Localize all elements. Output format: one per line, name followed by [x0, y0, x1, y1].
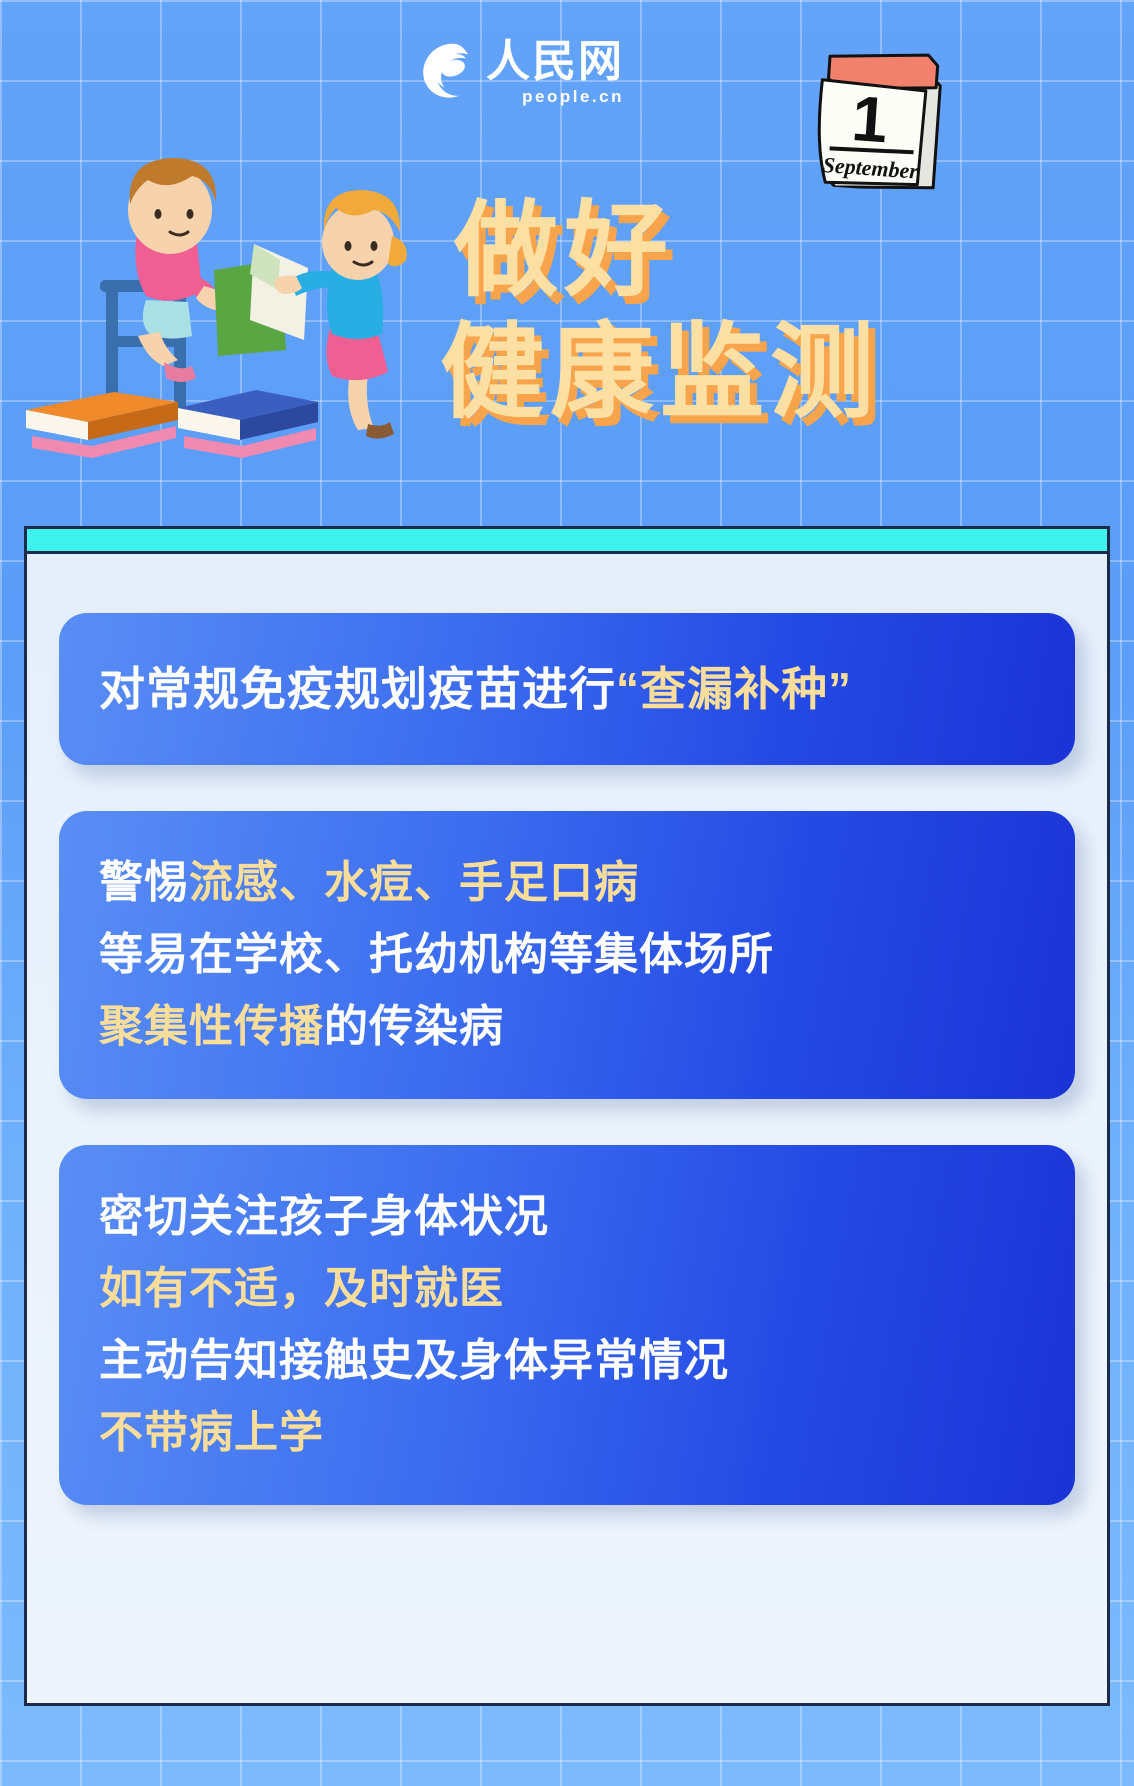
card-vaccine-catchup: 对常规免疫规划疫苗进行“查漏补种” [59, 613, 1075, 765]
body-text: 主动告知接触史及身体异常情况 [99, 1336, 729, 1385]
card-text-line: 对常规免疫规划疫苗进行“查漏补种” [99, 659, 1035, 719]
two-children-reading-book-illustration [18, 140, 438, 460]
calendar-page-icon: 1 September [807, 37, 957, 194]
highlighted-text: 如有不适，及时就医 [99, 1264, 504, 1313]
card-watch-infectious-disease: 警惕流感、水痘、手足口病等易在学校、托幼机构等集体场所聚集性传播的传染病 [59, 811, 1075, 1099]
content-panel: 对常规免疫规划疫苗进行“查漏补种”警惕流感、水痘、手足口病等易在学校、托幼机构等… [24, 526, 1110, 1706]
title-line-2: 健康监测 [440, 312, 1100, 434]
highlighted-text: 不带病上学 [99, 1408, 324, 1457]
brand-logo: 人民网 people.cn [416, 40, 624, 107]
body-text: 的传染病 [324, 1002, 504, 1051]
card-monitor-child-health: 密切关注孩子身体状况如有不适，及时就医主动告知接触史及身体异常情况不带病上学 [59, 1145, 1075, 1505]
body-text: 对常规免疫规划疫苗进行 [99, 663, 616, 715]
card-text-line: 等易在学校、托幼机构等集体场所 [99, 919, 1035, 991]
brand-name-en: people.cn [486, 87, 624, 107]
calendar-day: 1 [849, 82, 890, 156]
highlighted-text: 聚集性传播 [99, 1002, 324, 1051]
highlighted-text: “查漏补种” [616, 663, 852, 715]
title-line-1: 做好 [440, 190, 1100, 312]
body-text: 密切关注孩子身体状况 [99, 1192, 549, 1241]
people-cn-swoosh-logo-icon [416, 40, 476, 100]
page-title: 做好 健康监测 [440, 190, 1100, 434]
books-stack-icon [26, 390, 318, 458]
book-green-icon [214, 244, 308, 356]
highlighted-text: 流感、水痘、手足口病 [189, 858, 639, 907]
card-text-line: 如有不适，及时就医 [99, 1253, 1035, 1325]
poster-root: 人民网 people.cn 1 September [0, 0, 1134, 1786]
panel-top-accent-bar [24, 526, 1110, 554]
card-text-line: 主动告知接触史及身体异常情况 [99, 1325, 1035, 1397]
card-list: 对常规免疫规划疫苗进行“查漏补种”警惕流感、水痘、手足口病等易在学校、托幼机构等… [59, 613, 1075, 1505]
brand-wordmark: 人民网 people.cn [486, 40, 624, 107]
body-text: 等易在学校、托幼机构等集体场所 [99, 930, 774, 979]
body-text: 警惕 [99, 858, 189, 907]
brand-name-cn: 人民网 [486, 40, 624, 84]
card-text-line: 警惕流感、水痘、手足口病 [99, 847, 1035, 919]
card-text-line: 密切关注孩子身体状况 [99, 1181, 1035, 1253]
card-text-line: 不带病上学 [99, 1397, 1035, 1469]
card-text-line: 聚集性传播的传染病 [99, 991, 1035, 1063]
